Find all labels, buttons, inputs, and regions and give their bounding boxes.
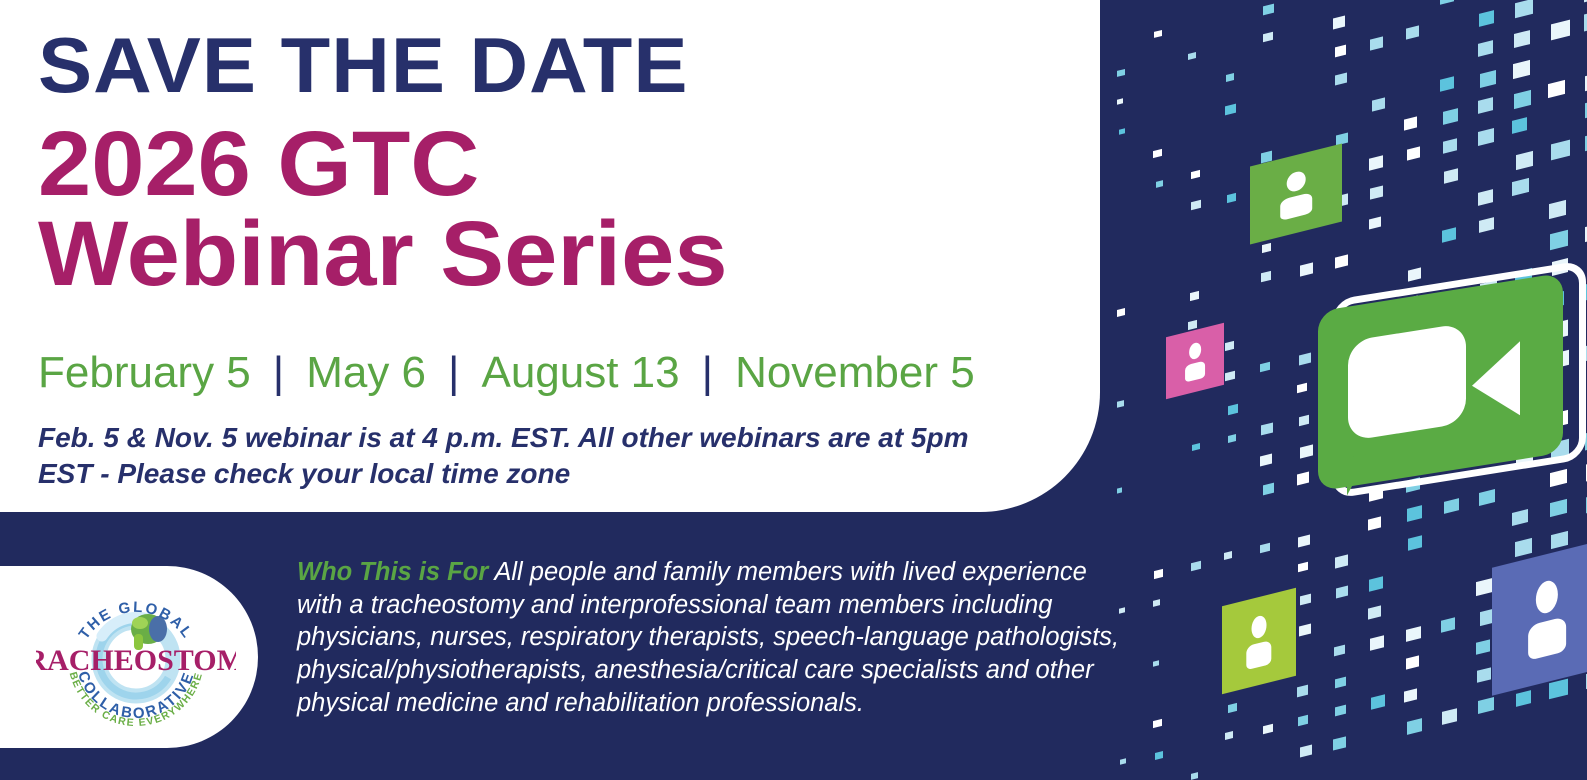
- grid-dot: [1262, 242, 1271, 252]
- grid-dot: [1550, 468, 1567, 486]
- logo-wordmark: TRACHEOSTOMY: [36, 644, 236, 677]
- gtc-logo-mark: TRACHEOSTOMY THE GLOBAL COLLABORATIVE BE…: [36, 574, 236, 740]
- grid-dot: [1188, 52, 1196, 60]
- grid-dot: [1261, 271, 1271, 283]
- grid-dot: [1155, 751, 1163, 760]
- grid-dot: [1263, 483, 1274, 496]
- grid-dot: [1407, 718, 1422, 734]
- audience-lead-label: Who This is For: [297, 558, 488, 586]
- grid-dot: [1407, 505, 1422, 522]
- grid-dot: [1334, 645, 1345, 657]
- grid-dot: [1298, 534, 1310, 547]
- grid-dot: [1297, 471, 1309, 485]
- grid-dot: [1444, 498, 1459, 514]
- grid-dot: [1370, 36, 1383, 50]
- grid-dot: [1191, 561, 1201, 572]
- grid-dot: [1297, 383, 1307, 394]
- grid-dot: [1117, 488, 1122, 494]
- grid-dot: [1192, 443, 1200, 451]
- grid-dot: [1408, 536, 1422, 552]
- grid-dot: [1404, 688, 1417, 703]
- grid-dot: [1300, 444, 1313, 458]
- grid-dot: [1513, 60, 1530, 79]
- grid-dot: [1551, 140, 1570, 161]
- grid-dot: [1512, 509, 1528, 526]
- grid-dot: [1479, 10, 1494, 27]
- grid-dot: [1368, 605, 1381, 619]
- grid-dot: [1335, 45, 1346, 58]
- grid-dot: [1478, 189, 1493, 205]
- grid-dot: [1442, 227, 1456, 243]
- audience-paragraph: Who This is For All people and family me…: [297, 556, 1127, 719]
- grid-dot: [1406, 626, 1421, 642]
- video-camera-lens-icon: [1472, 341, 1520, 423]
- webinar-time-note: Feb. 5 & Nov. 5 webinar is at 4 p.m. EST…: [38, 420, 1018, 492]
- grid-dot: [1153, 660, 1159, 667]
- grid-dot: [1300, 744, 1312, 757]
- grid-dot: [1372, 97, 1385, 111]
- grid-dot: [1228, 703, 1237, 713]
- date-separator: |: [251, 348, 306, 398]
- grid-dot: [1228, 434, 1236, 443]
- grid-dot: [1260, 543, 1270, 554]
- grid-dot: [1443, 108, 1458, 125]
- grid-dot: [1225, 341, 1234, 351]
- grid-dot: [1335, 73, 1347, 86]
- grid-dot: [1299, 352, 1311, 365]
- date-separator: |: [680, 348, 735, 398]
- grid-dot: [1263, 32, 1273, 43]
- grid-dot: [1515, 0, 1533, 19]
- grid-dot: [1512, 178, 1529, 197]
- grid-dot: [1225, 731, 1233, 740]
- grid-dot: [1512, 117, 1527, 134]
- grid-dot: [1369, 576, 1383, 591]
- grid-dot: [1515, 538, 1532, 557]
- person-icon: [1243, 611, 1276, 672]
- grid-dot: [1550, 499, 1567, 517]
- grid-dot: [1404, 117, 1417, 131]
- participant-tile-pink: [1166, 323, 1224, 399]
- person-icon: [1276, 166, 1316, 223]
- grid-dot: [1369, 217, 1381, 230]
- grid-dot: [1336, 586, 1348, 599]
- grid-dot: [1153, 719, 1162, 729]
- grid-dot: [1443, 138, 1457, 154]
- grid-dot: [1335, 555, 1348, 569]
- grid-dot: [1153, 149, 1162, 159]
- grid-dot: [1224, 551, 1232, 560]
- grid-dot: [1408, 267, 1421, 281]
- grid-dot: [1300, 594, 1311, 606]
- grid-dot: [1440, 0, 1454, 4]
- grid-dot: [1260, 453, 1272, 466]
- grid-dot: [1549, 679, 1568, 699]
- video-camera-icon: [1348, 323, 1466, 442]
- grid-dot: [1476, 578, 1493, 597]
- grid-dot: [1335, 704, 1346, 716]
- grid-dot: [1371, 694, 1385, 709]
- grid-dot: [1191, 200, 1201, 211]
- grid-dot: [1154, 569, 1163, 579]
- grid-dot: [1370, 185, 1383, 200]
- grid-dot: [1117, 400, 1124, 407]
- grid-dot: [1407, 146, 1420, 160]
- grid-dot: [1480, 70, 1496, 88]
- grid-dot: [1225, 370, 1235, 381]
- grid-dot: [1300, 262, 1313, 276]
- grid-dot: [1441, 617, 1455, 633]
- grid-dot: [1297, 684, 1308, 697]
- grid-dot: [1117, 98, 1123, 105]
- webinar-date-4: November 5: [735, 348, 975, 398]
- person-icon: [1182, 339, 1208, 383]
- grid-dot: [1120, 758, 1126, 765]
- grid-dot: [1335, 254, 1348, 268]
- grid-dot: [1550, 229, 1568, 249]
- grid-dot: [1551, 531, 1568, 549]
- grid-dot: [1516, 690, 1531, 707]
- logo-pill: TRACHEOSTOMY THE GLOBAL COLLABORATIVE BE…: [0, 566, 258, 748]
- headline-save-the-date: SAVE THE DATE: [38, 26, 689, 104]
- headline-card: SAVE THE DATE 2026 GTC Webinar Series Fe…: [0, 0, 1100, 512]
- speech-bubble-tail: [1347, 452, 1379, 495]
- grid-dot: [1117, 69, 1125, 77]
- grid-dot: [1514, 30, 1530, 48]
- headline-webinar-series: Webinar Series: [38, 208, 728, 300]
- grid-dot: [1227, 193, 1236, 203]
- grid-dot: [1228, 404, 1238, 415]
- grid-dot: [1476, 640, 1490, 656]
- save-the-date-banner: SAVE THE DATE 2026 GTC Webinar Series Fe…: [0, 0, 1587, 780]
- grid-dot: [1478, 97, 1493, 114]
- grid-dot: [1440, 76, 1454, 91]
- grid-dot: [1261, 423, 1273, 436]
- grid-dot: [1263, 724, 1273, 735]
- grid-dot: [1516, 151, 1533, 170]
- grid-dot: [1478, 697, 1494, 714]
- grid-dot: [1190, 291, 1199, 301]
- grid-dot: [1153, 599, 1160, 607]
- grid-dot: [1191, 170, 1200, 180]
- grid-dot: [1514, 90, 1531, 109]
- webinar-date-3: August 13: [481, 348, 679, 398]
- grid-dot: [1370, 635, 1384, 651]
- grid-dot: [1368, 517, 1381, 531]
- participant-tile-periwinkle: [1492, 540, 1587, 695]
- grid-dot: [1444, 168, 1458, 183]
- grid-dot: [1260, 362, 1270, 373]
- gtc-logo: TRACHEOSTOMY THE GLOBAL COLLABORATIVE BE…: [0, 566, 258, 748]
- grid-dot: [1406, 655, 1419, 669]
- webinar-date-1: February 5: [38, 348, 251, 398]
- webinar-dates-row: February 5|May 6|August 13|November 5: [38, 348, 975, 398]
- grid-dot: [1548, 80, 1565, 98]
- grid-dot: [1406, 25, 1419, 39]
- grid-dot: [1335, 676, 1346, 688]
- grid-dot: [1477, 667, 1491, 683]
- grid-dot: [1119, 128, 1125, 135]
- grid-dot: [1154, 30, 1162, 38]
- grid-dot: [1117, 308, 1125, 317]
- grid-dot: [1333, 736, 1346, 750]
- grid-dot: [1299, 624, 1311, 637]
- grid-dot: [1479, 218, 1494, 234]
- webinar-date-2: May 6: [306, 348, 426, 398]
- grid-dot: [1225, 103, 1236, 115]
- grid-dot: [1299, 414, 1309, 425]
- grid-dot: [1549, 200, 1566, 219]
- participant-tile-lime: [1222, 588, 1296, 694]
- grid-dot: [1333, 15, 1345, 29]
- grid-dot: [1263, 4, 1274, 16]
- grid-dot: [1442, 708, 1457, 725]
- person-icon: [1523, 574, 1571, 663]
- grid-dot: [1551, 20, 1570, 41]
- date-separator: |: [426, 348, 481, 398]
- headline-year-gtc: 2026 GTC: [38, 118, 479, 210]
- grid-dot: [1298, 715, 1308, 726]
- grid-dot: [1478, 40, 1493, 56]
- grid-dot: [1369, 155, 1383, 171]
- grid-dot: [1226, 73, 1234, 82]
- grid-dot: [1191, 772, 1198, 780]
- grid-dot: [1298, 562, 1308, 573]
- grid-dot: [1478, 128, 1494, 146]
- grid-dot: [1156, 180, 1163, 188]
- grid-dot: [1479, 489, 1495, 506]
